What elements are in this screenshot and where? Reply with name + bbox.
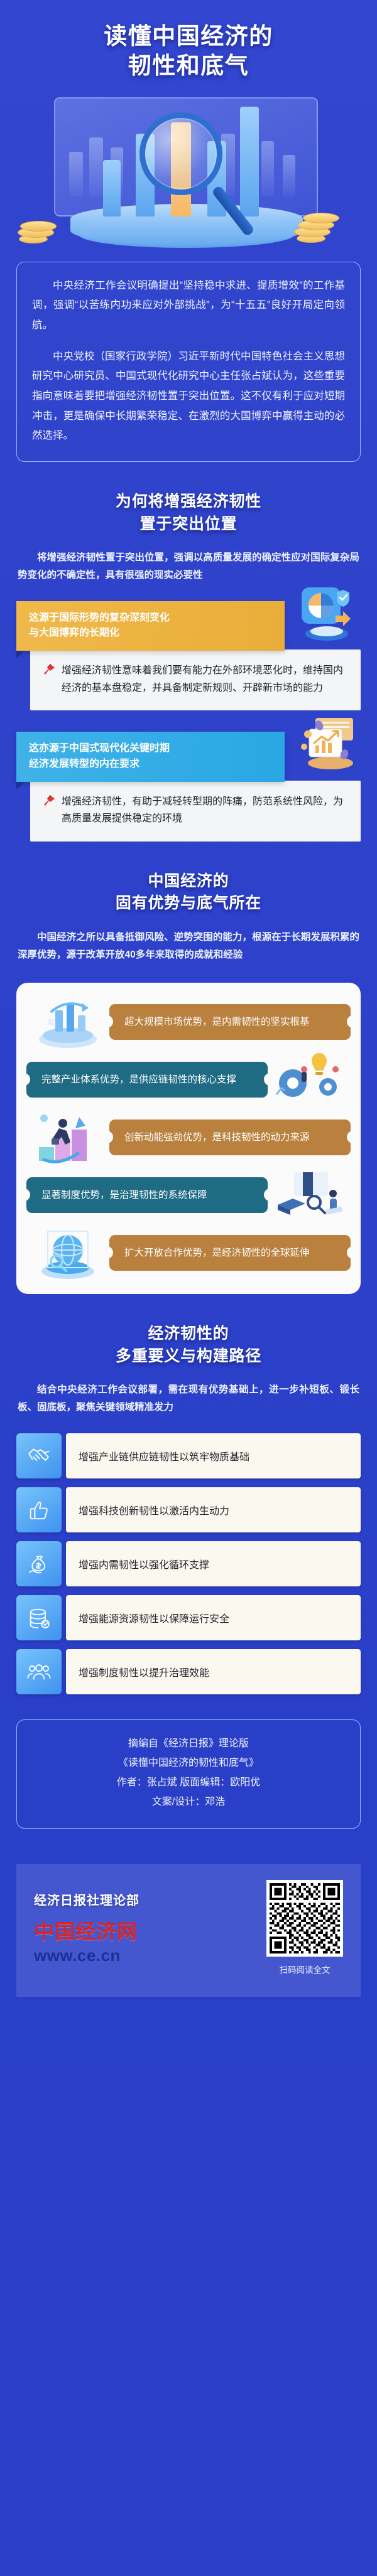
section-3-heading: 经济韧性的 多重要义与构建路径 — [0, 1323, 377, 1367]
qr-block[interactable]: 扫码阅读全文 — [266, 1880, 343, 1975]
section-2-lead: 中国经济之所以具备抵御风险、逆势突围的能力，根源在于长期发展积累的深厚优势，源于… — [18, 929, 359, 964]
reason-card-1: 这源于国际形势的复杂深刻变化 与大国博弈的长期化 增强经济韧性意味着我们要有能力… — [16, 601, 361, 711]
intro-box: 中央经济工作会议明确提出“坚持稳中求进、提质增效”的工作基调，强调“以苦练内功来… — [16, 262, 361, 462]
section-2-heading-line-2: 固有优势与底气所在 — [0, 892, 377, 915]
globe-network-icon — [26, 1224, 109, 1281]
advantage-label: 完整产业体系优势，是供应链韧性的核心支撑 — [26, 1062, 268, 1098]
path-label: 增强科技创新韧性以激活内生动力 — [66, 1487, 361, 1532]
path-row: 增强科技创新韧性以激活内生动力 — [16, 1487, 361, 1532]
credit-designer: 文案/设计：邓浩 — [30, 1792, 347, 1812]
brand-website: www.ce.cn — [34, 1946, 253, 1965]
money-bag-hand-icon — [16, 1541, 62, 1586]
intro-paragraph-1: 中央经济工作会议明确提出“坚持稳中求进、提质增效”的工作基调，强调“以苦练内功来… — [32, 276, 345, 336]
advantage-label: 创新动能强劲优势，是科技韧性的动力来源 — [109, 1120, 351, 1155]
credit-author-editor: 作者：张占斌 版面编辑：欧阳优 — [30, 1773, 347, 1792]
chart-bar — [103, 160, 121, 216]
pin-icon — [43, 663, 55, 678]
advantage-row: 扩大开放合作优势，是经济韧性的全球延伸 — [26, 1224, 351, 1281]
reason-2-ribbon-line-2: 经济发展转型的内在要求 — [29, 757, 273, 772]
path-label: 增强制度韧性以提升治理效能 — [66, 1649, 361, 1694]
advantage-label: 显著制度优势，是治理韧性的系统保障 — [26, 1177, 268, 1213]
page-title: 读懂中国经济的 韧性和底气 — [0, 21, 377, 81]
intro-paragraph-2: 中央党校（国家行政学院）习近平新时代中国特色社会主义思想研究中心研究员、中国式现… — [32, 347, 345, 446]
credits-box: 摘编自《经济日报》理论版 《读懂中国经济的韧性和底气》 作者：张占斌 版面编辑：… — [16, 1719, 361, 1829]
title-line-1: 读懂中国经济的 — [0, 21, 377, 51]
path-row: 增强能源资源韧性以保障运行安全 — [16, 1595, 361, 1640]
section-1-heading-line-1: 为何将增强经济韧性 — [0, 491, 377, 513]
section-3-lead: 结合中央经济工作会议部署，需在现有优势基础上，进一步补短板、锻长板、固底板，聚焦… — [18, 1381, 359, 1416]
ghost-bar — [261, 141, 274, 196]
reason-2-body: 增强经济韧性，有助于减轻转型期的阵痛，防范系统性风险，为高质量发展提供稳定的环境 — [30, 781, 361, 842]
section-2-heading-line-1: 中国经济的 — [0, 870, 377, 893]
path-row: 增强内需韧性以强化循环支撑 — [16, 1541, 361, 1586]
path-row: 增强产业链供应链韧性以筑牢物质基础 — [16, 1433, 361, 1478]
ghost-bar — [69, 152, 83, 196]
pie-chart-shield-icon — [290, 585, 358, 645]
advantage-label: 扩大开放合作优势，是经济韧性的全球延伸 — [109, 1235, 351, 1271]
reason-card-2: 这亦源于中国式现代化关键时期 经济发展转型的内在要求 增强经济韧性，有助于减轻转… — [16, 732, 361, 842]
ghost-bar — [283, 155, 295, 196]
chart-bar — [240, 107, 259, 216]
advantage-row: 创新动能强劲优势，是科技韧性的动力来源 — [26, 1108, 351, 1166]
bar-chart-podium-icon — [26, 993, 109, 1050]
section-3-heading-line-2: 多重要义与构建路径 — [0, 1345, 377, 1368]
path-row: 增强制度韧性以提升治理效能 — [16, 1649, 361, 1694]
publisher-department: 经济日报社理论部 — [34, 1890, 253, 1908]
thumbs-up-icon — [16, 1487, 62, 1532]
section-1-lead: 将增强经济韧性置于突出位置，强调以高质量发展的确定性应对国际复杂局势变化的不确定… — [18, 549, 359, 584]
people-group-icon — [16, 1649, 62, 1694]
magnifier-icon — [139, 112, 222, 195]
path-label: 增强内需韧性以强化循环支撑 — [66, 1541, 361, 1586]
reason-1-text: 增强经济韧性意味着我们要有能力在外部环境恶化时，维持国内经济的基本盘稳定，并具备… — [62, 662, 346, 697]
section-2-heading: 中国经济的 固有优势与底气所在 — [0, 870, 377, 915]
hero-illustration — [0, 92, 377, 262]
handshake-icon — [16, 1433, 62, 1478]
podium-top — [79, 215, 294, 248]
reason-1-ribbon-line-1: 这源于国际形势的复杂深刻变化 — [29, 611, 273, 626]
gears-lightbulb-icon — [268, 1050, 351, 1108]
section-3-heading-line-1: 经济韧性的 — [0, 1323, 377, 1345]
books-research-icon — [268, 1166, 351, 1224]
database-check-icon — [16, 1595, 62, 1640]
qr-code-icon[interactable] — [266, 1880, 343, 1957]
reason-2-text: 增强经济韧性，有助于减轻转型期的阵痛，防范系统性风险，为高质量发展提供稳定的环境 — [62, 793, 346, 828]
footer-bar: 经济日报社理论部 中国经济网 www.ce.cn — [16, 1864, 361, 1997]
reason-2-ribbon-line-1: 这亦源于中国式现代化关键时期 — [29, 741, 273, 757]
section-1-heading: 为何将增强经济韧性 置于突出位置 — [0, 491, 377, 535]
credit-article-title: 《读懂中国经济的韧性和底气》 — [30, 1753, 347, 1773]
advantage-row: 超大规模市场优势，是内需韧性的坚实根基 — [26, 993, 351, 1050]
advantage-row: 完整产业体系优势，是供应链韧性的核心支撑 — [26, 1050, 351, 1108]
qr-caption: 扫码阅读全文 — [266, 1963, 343, 1975]
path-label: 增强产业链供应链韧性以筑牢物质基础 — [66, 1433, 361, 1478]
brand-block: 经济日报社理论部 中国经济网 www.ce.cn — [34, 1890, 253, 1965]
path-label: 增强能源资源韧性以保障运行安全 — [66, 1595, 361, 1640]
credit-source: 摘编自《经济日报》理论版 — [30, 1734, 347, 1753]
section-1-heading-line-2: 置于突出位置 — [0, 513, 377, 536]
reason-2-ribbon: 这亦源于中国式现代化关键时期 经济发展转型的内在要求 — [16, 732, 285, 782]
pin-icon — [43, 794, 55, 810]
advantage-label: 超大规模市场优势，是内需韧性的坚实根基 — [109, 1004, 351, 1040]
growth-chart-desk-icon — [290, 715, 358, 776]
reason-1-body: 增强经济韧性意味着我们要有能力在外部环境恶化时，维持国内经济的基本盘稳定，并具备… — [30, 649, 361, 710]
brand-name-cn: 中国经济网 — [34, 1916, 253, 1945]
advantages-panel: 超大规模市场优势，是内需韧性的坚实根基 完整产业体系优势，是供应链韧性的核心支撑 — [16, 983, 361, 1294]
climbing-steps-icon — [26, 1108, 109, 1166]
reason-1-ribbon: 这源于国际形势的复杂深刻变化 与大国博弈的长期化 — [16, 601, 285, 651]
hero-section: 读懂中国经济的 韧性和底气 — [0, 0, 377, 262]
title-line-2: 韧性和底气 — [0, 51, 377, 80]
ghost-bar — [89, 137, 103, 196]
advantage-row: 显著制度优势，是治理韧性的系统保障 — [26, 1166, 351, 1224]
reason-1-ribbon-line-2: 与大国博弈的长期化 — [29, 626, 273, 641]
